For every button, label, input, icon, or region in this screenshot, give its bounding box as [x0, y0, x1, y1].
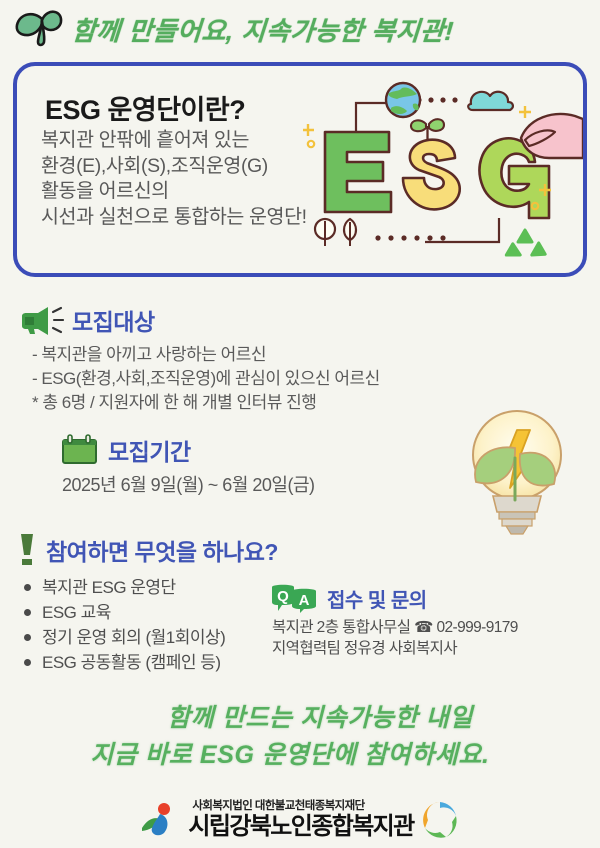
leaf-icon — [344, 219, 356, 246]
slogan-line-2: 지금 바로 ESG 운영단에 참여하세요. — [0, 737, 600, 774]
megaphone-icon — [18, 304, 64, 336]
esg-letter-s — [403, 140, 460, 210]
exclamation-icon — [16, 533, 38, 567]
top-headline-text: 함께 만들어요, 지속가능한 복지관! — [71, 11, 456, 48]
esg-illustration — [303, 66, 583, 273]
sprout-icon — [12, 9, 66, 49]
recycle-icon — [506, 230, 545, 261]
foundation-mark-icon — [138, 798, 182, 842]
section-recruit-target: 모집대상 - 복지관을 아끼고 사랑하는 어르신 - ESG(환경,사회,조직운… — [18, 303, 488, 415]
svg-text:Q: Q — [277, 588, 289, 605]
section-title: 접수 및 문의 — [327, 584, 427, 613]
calendar-icon — [60, 433, 100, 467]
section-title: 모집기간 — [108, 433, 191, 467]
section-header: 모집대상 — [18, 303, 488, 337]
center-name: 시립강북노인종합복지관 — [188, 815, 413, 839]
section-header: Q A 접수 및 문의 — [268, 583, 598, 613]
foundation-name: 사회복지법인 대한불교천태종복지재단 — [192, 801, 413, 813]
section-body: 2025년 6월 9일(월) ~ 6월 20일(금) — [62, 473, 460, 497]
page-title: ESG 운영단이란? — [45, 88, 245, 127]
slogan-line-1: 함께 만드는 지속가능한 내일 — [0, 700, 600, 737]
poster-root: 함께 만들어요, 지속가능한 복지관! — [0, 0, 600, 848]
section-title: 참여하면 무엇을 하나요? — [46, 533, 278, 567]
section-header: 모집기간 — [60, 433, 460, 467]
esg-description: 복지관 안팎에 흩어져 있는 환경(E),사회(S),조직운영(G) 활동을 어… — [41, 128, 307, 230]
section-body: - 복지관을 아끼고 사랑하는 어르신 - ESG(환경,사회,조직운영)에 관… — [32, 343, 488, 415]
bottom-slogan: 함께 만드는 지속가능한 내일 지금 바로 ESG 운영단에 참여하세요. — [0, 700, 600, 774]
logo-text-block: 사회복지법인 대한불교천태종복지재단 시립강북노인종합복지관 — [188, 801, 413, 839]
footer-logo: 사회복지법인 대한불교천태종복지재단 시립강북노인종합복지관 — [0, 792, 600, 848]
esg-definition-box: ESG 운영단이란? 복지관 안팎에 흩어져 있는 환경(E),사회(S),조직… — [13, 62, 587, 277]
section-title: 모집대상 — [72, 303, 155, 337]
section-contact: Q A 접수 및 문의 복지관 2층 통합사무실 ☎ 02-999-9179 지… — [268, 583, 598, 659]
qa-bubble-icon: Q A — [268, 583, 320, 613]
top-headline-band: 함께 만들어요, 지속가능한 복지관! — [0, 0, 600, 58]
section-header: 참여하면 무엇을 하나요? — [16, 533, 316, 567]
section-recruit-period: 모집기간 2025년 6월 9일(월) ~ 6월 20일(금) — [60, 433, 460, 497]
cloud-icon — [468, 92, 513, 110]
tree-icon — [315, 219, 335, 246]
earth-icon — [386, 83, 420, 117]
contact-details: 복지관 2층 통합사무실 ☎ 02-999-9179 지역협력팀 정유경 사회복… — [272, 617, 598, 659]
center-ring-icon — [418, 798, 462, 842]
hand-icon — [521, 114, 583, 158]
lightbulb-icon — [452, 400, 582, 540]
esg-letter-e — [325, 132, 391, 212]
svg-text:A: A — [299, 592, 310, 609]
